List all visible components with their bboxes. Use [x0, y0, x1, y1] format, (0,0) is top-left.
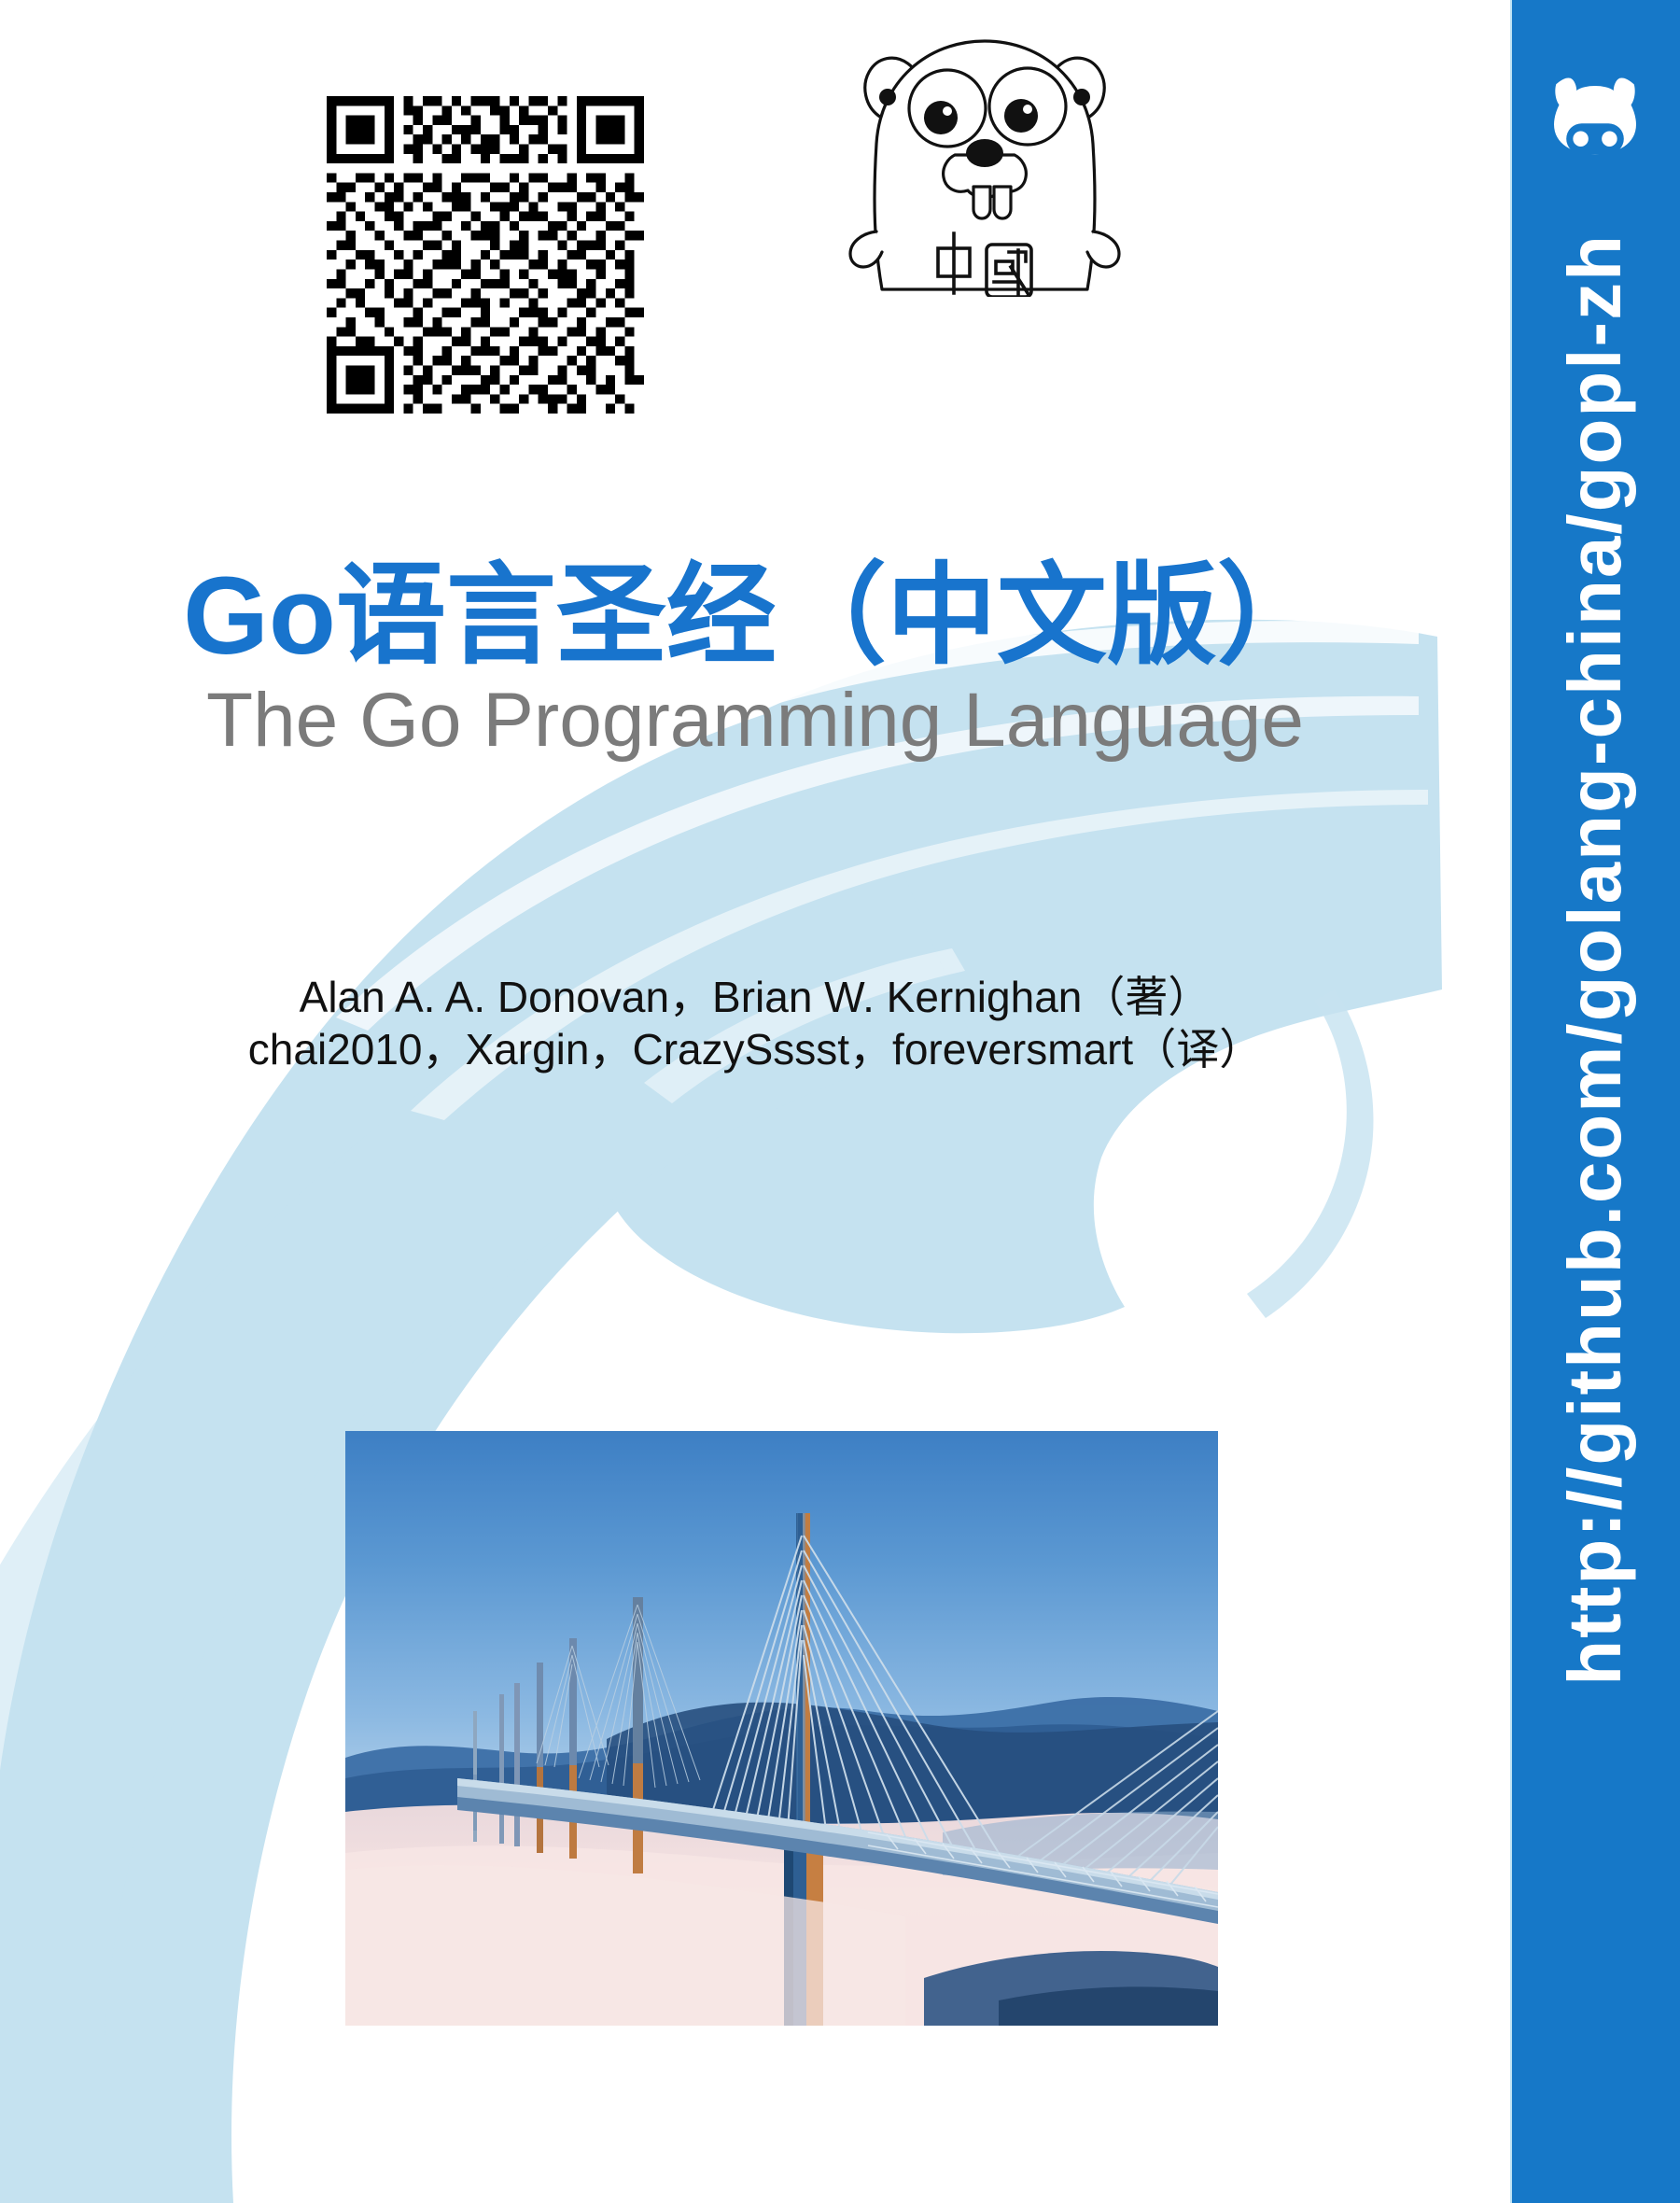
repo-url-text: http://github.com/golang-china/gopl-zh — [1510, 233, 1680, 1686]
millau-viaduct-photo — [345, 1431, 1218, 2026]
book-cover: Go语言圣经（中文版） The Go Programming Language … — [0, 0, 1680, 2203]
translators-line: chai2010，Xargin，CrazySssst，foreversmart（… — [0, 1023, 1510, 1075]
page-title: Go语言圣经（中文版） — [0, 560, 1510, 672]
page-subtitle: The Go Programming Language — [0, 680, 1510, 763]
go-gopher-mascot-icon — [845, 17, 1125, 297]
repo-url[interactable]: http://github.com/golang-china/gopl-zh — [1510, 233, 1680, 2100]
title-block: Go语言圣经（中文版） The Go Programming Language — [0, 560, 1510, 763]
github-octocat-icon — [1544, 70, 1646, 173]
qr-code[interactable] — [327, 96, 644, 414]
authors-line: Alan A. A. Donovan，Brian W. Kernighan（著） — [0, 971, 1510, 1023]
author-block: Alan A. A. Donovan，Brian W. Kernighan（著）… — [0, 971, 1510, 1075]
github-sidebar: http://github.com/golang-china/gopl-zh — [1510, 0, 1680, 2203]
